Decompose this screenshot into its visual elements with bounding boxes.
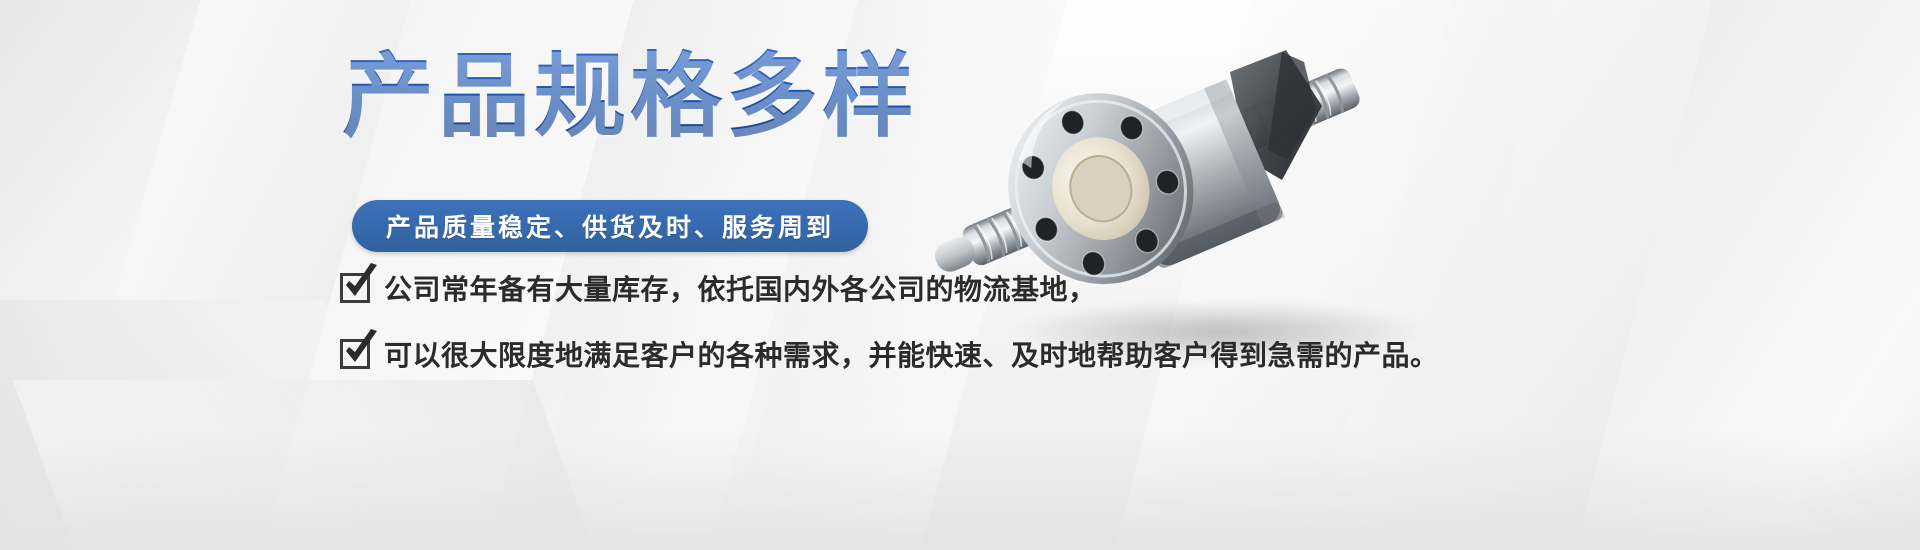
list-item: 可以很大限度地满足客户的各种需求，并能快速、及时地帮助客户得到急需的产品。 [340, 334, 1439, 374]
checkbox-check-icon [340, 339, 370, 369]
list-item: 公司常年备有大量库存，依托国内外各公司的物流基地， [340, 268, 1439, 308]
status-badge: 产品质量稳定、供货及时、服务周到 [352, 200, 868, 252]
list-item-label: 可以很大限度地满足客户的各种需求，并能快速、及时地帮助客户得到急需的产品。 [384, 334, 1439, 374]
promo-banner: 产品规格多样 产品质量稳定、供货及时、服务周到 公司常年备有大量库存，依托国内外… [0, 0, 1920, 550]
checkbox-check-icon [340, 273, 370, 303]
list-item-label: 公司常年备有大量库存，依托国内外各公司的物流基地， [384, 268, 1097, 308]
banner-content: 产品规格多样 产品质量稳定、供货及时、服务周到 公司常年备有大量库存，依托国内外… [0, 0, 1920, 550]
status-badge-label: 产品质量稳定、供货及时、服务周到 [386, 208, 834, 244]
feature-list: 公司常年备有大量库存，依托国内外各公司的物流基地， 可以很大限度地满足客户的各种… [340, 268, 1439, 400]
page-title: 产品规格多样 [342, 48, 918, 147]
